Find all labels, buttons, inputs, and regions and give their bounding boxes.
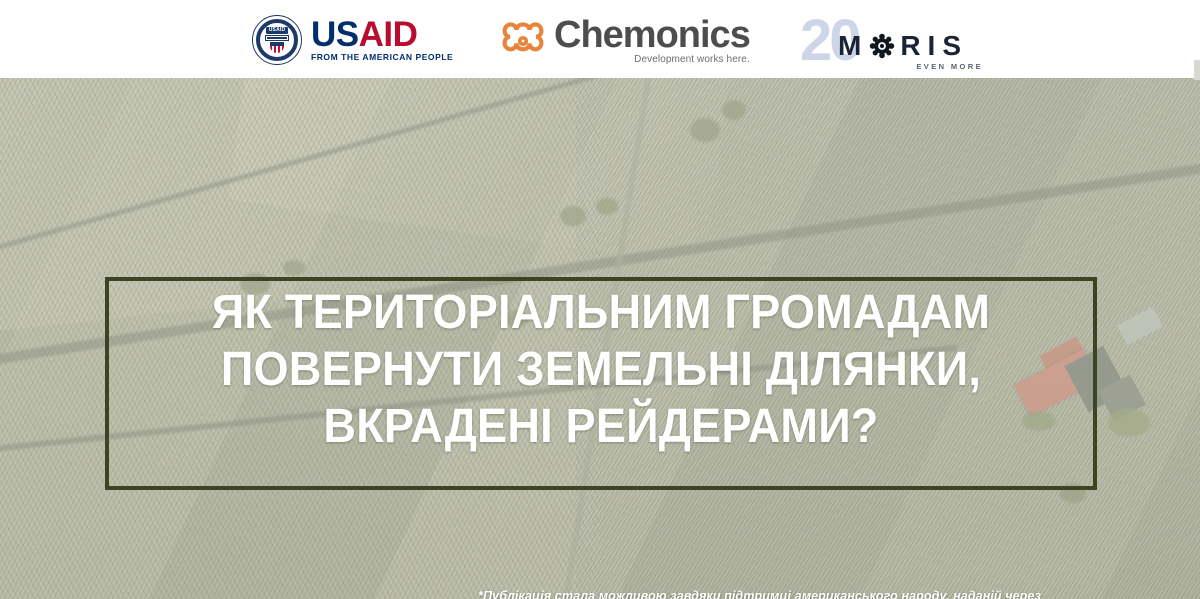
moris-logo: 20 M	[800, 10, 985, 70]
usaid-word-us: US	[311, 15, 359, 54]
chemonics-name: Chemonics	[554, 17, 750, 53]
chemonics-clover-icon	[500, 18, 546, 64]
poster-page: USAID USAID FROM THE AMERICAN PEOPLE	[0, 0, 1200, 599]
moris-letters-ris: RIS	[900, 32, 968, 60]
chemonics-logo: Chemonics Development works here.	[500, 15, 750, 67]
right-edge-artifact	[1194, 60, 1200, 80]
funding-disclaimer: *Публікація стала можливою завдяки підтр…	[478, 588, 1150, 599]
hero-banner: ЯК ТЕРИТОРІАЛЬНИМ ГРОМАДАМ ПОВЕРНУТИ ЗЕМ…	[0, 78, 1200, 599]
moris-letter-m: M	[838, 32, 868, 60]
usaid-word-aid: AID	[359, 15, 418, 54]
usaid-logo: USAID USAID FROM THE AMERICAN PEOPLE	[252, 13, 453, 67]
disclaimer-line-1: *Публікація стала можливою завдяки підтр…	[478, 588, 1150, 599]
headline-line-3: ВКРАДЕНІ РЕЙДЕРАМИ?	[135, 398, 1067, 455]
page-title: ЯК ТЕРИТОРІАЛЬНИМ ГРОМАДАМ ПОВЕРНУТИ ЗЕМ…	[135, 284, 1067, 455]
moris-emblem-icon	[869, 33, 895, 59]
usaid-seal-label: USAID	[266, 27, 289, 34]
headline-line-2: ПОВЕРНУТИ ЗЕМЕЛЬНІ ДІЛЯНКИ,	[135, 341, 1067, 398]
moris-tagline: EVEN MORE	[916, 62, 983, 71]
usaid-tagline: FROM THE AMERICAN PEOPLE	[311, 52, 453, 62]
usaid-wordmark: USAID FROM THE AMERICAN PEOPLE	[311, 18, 453, 62]
headline-line-1: ЯК ТЕРИТОРІАЛЬНИМ ГРОМАДАМ	[135, 284, 1067, 341]
logo-bar: USAID USAID FROM THE AMERICAN PEOPLE	[0, 0, 1200, 78]
usaid-seal-icon: USAID	[252, 15, 302, 65]
